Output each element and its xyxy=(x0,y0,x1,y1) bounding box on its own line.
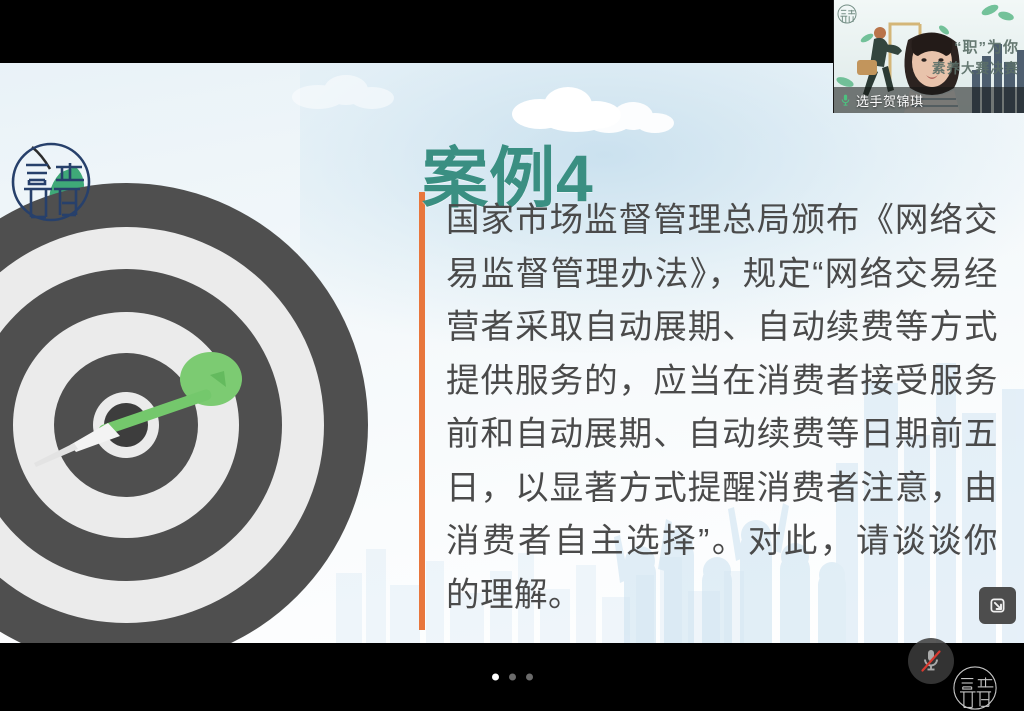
seal-circle-logo-icon xyxy=(10,137,92,227)
expand-diagonal-icon xyxy=(987,595,1008,616)
presentation-slide: 案例4 国家市场监督管理总局颁布《网络交易监督管理办法》，规定“网络交易经营者采… xyxy=(0,63,1024,643)
speaker-video-tile[interactable]: “职”为你 素养大赛决赛 选手贺锦琪 xyxy=(833,0,1024,113)
watermark-seal-logo-icon xyxy=(950,663,1000,711)
tile-seal-logo-icon xyxy=(837,3,857,25)
cloud-decoration xyxy=(510,81,630,133)
bottom-control-bar xyxy=(0,643,1024,711)
speaker-name-label: 选手贺锦琪 xyxy=(856,91,924,110)
dart-icon xyxy=(34,352,242,467)
pagination-dot-3[interactable] xyxy=(526,674,533,681)
speaker-name-caption: 选手贺锦琪 xyxy=(834,87,1024,113)
cloud-decoration xyxy=(585,98,675,134)
microphone-icon xyxy=(839,92,852,108)
video-overlay-title-line2: 素养大赛决赛 xyxy=(932,57,1019,77)
video-overlay-title-line1: “职”为你 xyxy=(954,36,1019,57)
pagination-dots[interactable] xyxy=(492,674,533,681)
pagination-dot-2[interactable] xyxy=(509,674,516,681)
microphone-muted-button[interactable] xyxy=(908,638,954,684)
accent-bar-decoration xyxy=(419,192,425,630)
slide-body-text: 国家市场监督管理总局颁布《网络交易监督管理办法》，规定“网络交易经营者采取自动展… xyxy=(446,194,998,622)
microphone-muted-icon xyxy=(919,648,943,674)
cloud-decoration xyxy=(290,71,400,111)
pagination-dot-1[interactable] xyxy=(492,674,499,681)
expand-diagonal-button[interactable] xyxy=(979,587,1016,624)
meeting-screen-share-window: 案例4 国家市场监督管理总局颁布《网络交易监督管理办法》，规定“网络交易经营者采… xyxy=(0,0,1024,711)
